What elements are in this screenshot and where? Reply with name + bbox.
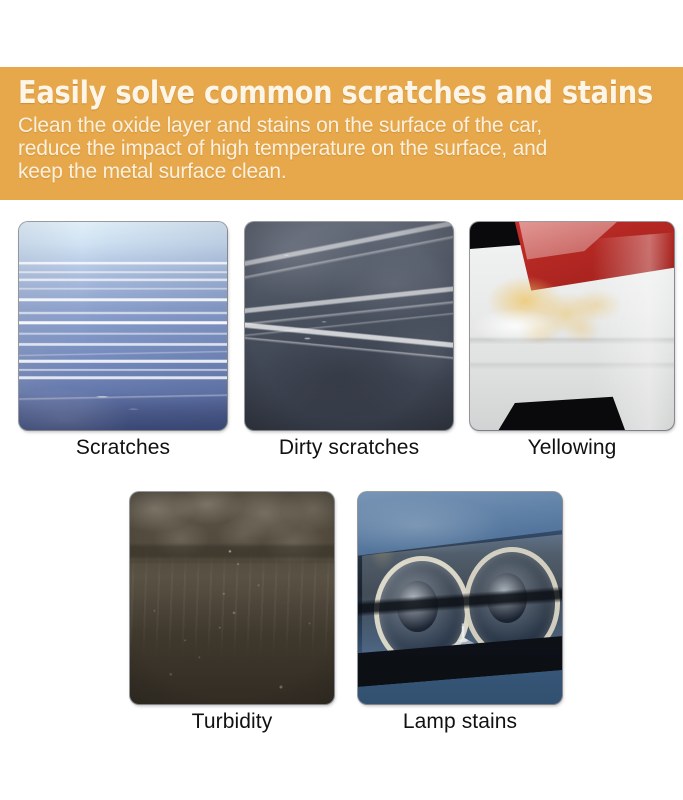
banner-subtitle-line-3: keep the metal surface clean. — [18, 160, 669, 183]
headlight-lamp-stains-photo — [358, 492, 562, 704]
caption-turbidity: Turbidity — [130, 710, 334, 734]
banner-subtitle-line-1: Clean the oxide layer and stains on the … — [18, 114, 669, 137]
caption-lamp-stains: Lamp stains — [358, 710, 562, 734]
photo-layer-shadow — [130, 492, 334, 704]
grey-paint-dirty-scratches-photo — [245, 222, 453, 430]
top-white-margin — [0, 0, 683, 67]
photo-layer-gloss — [470, 222, 674, 430]
muddy-turbid-surface-photo — [130, 492, 334, 704]
photo-layer-gloss — [358, 492, 562, 704]
caption-dirty-scratches: Dirty scratches — [245, 436, 453, 460]
gallery-item-scratches: Scratches — [19, 222, 227, 462]
promo-banner: Easily solve common scratches and stains… — [0, 67, 683, 200]
caption-scratches: Scratches — [19, 436, 227, 460]
photo-layer-vignette — [245, 222, 453, 430]
problem-gallery: Scratches Dirty scratches Yellowing — [0, 200, 683, 800]
white-bumper-yellowing-photo — [470, 222, 674, 430]
gallery-item-yellowing: Yellowing — [470, 222, 674, 462]
blue-paint-scratches-photo — [19, 222, 227, 430]
gallery-item-turbidity: Turbidity — [130, 492, 334, 737]
caption-yellowing: Yellowing — [470, 436, 674, 460]
banner-subtitle-line-2: reduce the impact of high temperature on… — [18, 137, 669, 160]
banner-title: Easily solve common scratches and stains — [18, 75, 591, 111]
gallery-item-lamp-stains: Lamp stains — [358, 492, 562, 737]
photo-layer-shadow — [19, 222, 227, 430]
gallery-item-dirty-scratches: Dirty scratches — [245, 222, 453, 462]
banner-subtitle: Clean the oxide layer and stains on the … — [18, 114, 669, 183]
